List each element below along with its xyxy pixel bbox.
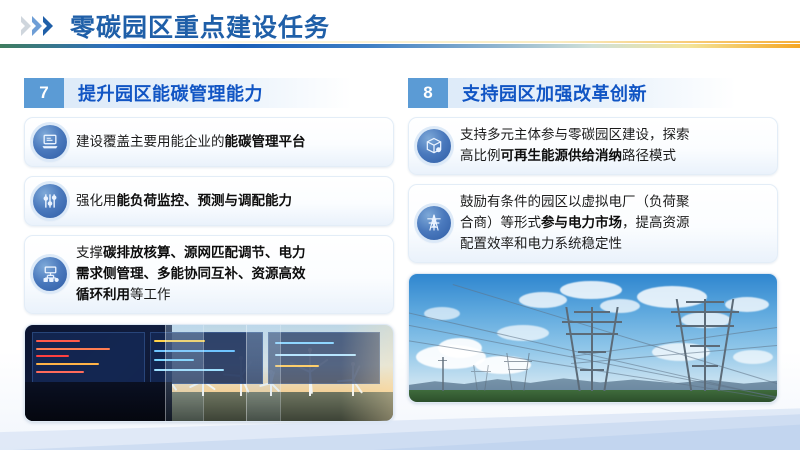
bullet-text: 支撑碳排放核算、源网匹配调节、电力需求侧管理、多能协同互补、资源高效循环利用等工… [76,243,306,306]
page-title: 零碳园区重点建设任务 [70,8,330,44]
section-number-badge: 8 [408,78,448,108]
text-line: 配置效率和电力系统稳定性 [460,234,690,255]
text-line: 强化用能负荷监控、预测与调配能力 [76,191,292,212]
pylon [472,365,490,391]
bullet-card[interactable]: 支撑碳排放核算、源网匹配调节、电力需求侧管理、多能协同互补、资源高效循环利用等工… [24,235,394,314]
bullet-text: 强化用能负荷监控、预测与调配能力 [76,191,292,212]
transmission-tower-icon [417,206,451,240]
text-line: 支撑碳排放核算、源网匹配调节、电力 [76,243,306,264]
bullet-card[interactable]: 鼓励有条件的园区以虚拟电厂（负荷聚合商）等形式参与电力市场，提高资源配置效率和电… [408,184,778,263]
pylon [564,307,620,391]
data-network-icon [33,257,67,291]
section-header-8: 8 支持园区加强改革创新 [408,78,778,108]
bullet-card[interactable]: 支持多元主体参与零碳园区建设，探索高比例可再生能源供给消纳路径模式 [408,117,778,175]
text-line: 鼓励有条件的园区以虚拟电厂（负荷聚 [460,192,690,213]
equalizer-sliders-icon [33,184,67,218]
bullet-text: 支持多元主体参与零碳园区建设，探索高比例可再生能源供给消纳路径模式 [460,125,690,167]
text-line: 高比例可再生能源供给消纳路径模式 [460,146,690,167]
wind-farm-control-room-photo [24,324,394,422]
bullet-card[interactable]: 强化用能负荷监控、预测与调配能力 [24,176,394,226]
text-line: 循环利用等工作 [76,285,306,306]
section-title: 支持园区加强改革创新 [462,78,647,108]
bullet-card[interactable]: 建设覆盖主要用能企业的能碳管理平台 [24,117,394,167]
header-rule-highlight [0,41,800,43]
cube-box-icon [417,129,451,163]
section-number-badge: 7 [24,78,64,108]
bullet-text: 建设覆盖主要用能企业的能碳管理平台 [76,132,306,153]
column-right: 8 支持园区加强改革创新 支持多元主体参与零碳园区建设，探索高比例可再生能源供给… [408,78,778,403]
pylon [505,353,531,391]
text-line: 支持多元主体参与零碳园区建设，探索 [460,125,690,146]
pylon [674,299,736,391]
text-line: 合商）等形式参与电力市场，提高资源 [460,213,690,234]
slide-canvas: 零碳园区重点建设任务 7 提升园区能碳管理能力 建设覆盖主要用能企业的能碳管理平… [0,0,800,450]
section-header-7: 7 提升园区能碳管理能力 [24,78,394,108]
text-line: 建设覆盖主要用能企业的能碳管理平台 [76,132,306,153]
header-rule [0,44,800,48]
slide-header: 零碳园区重点建设任务 [0,0,800,52]
power-transmission-towers-photo [408,273,778,403]
monitor-platform-icon [33,125,67,159]
double-chevron-right-icon [20,15,53,37]
section-title: 提升园区能碳管理能力 [78,78,263,108]
text-line: 需求侧管理、多能协同互补、资源高效 [76,264,306,285]
bullet-text: 鼓励有条件的园区以虚拟电厂（负荷聚合商）等形式参与电力市场，提高资源配置效率和电… [460,192,690,255]
column-left: 7 提升园区能碳管理能力 建设覆盖主要用能企业的能碳管理平台 [24,78,394,422]
